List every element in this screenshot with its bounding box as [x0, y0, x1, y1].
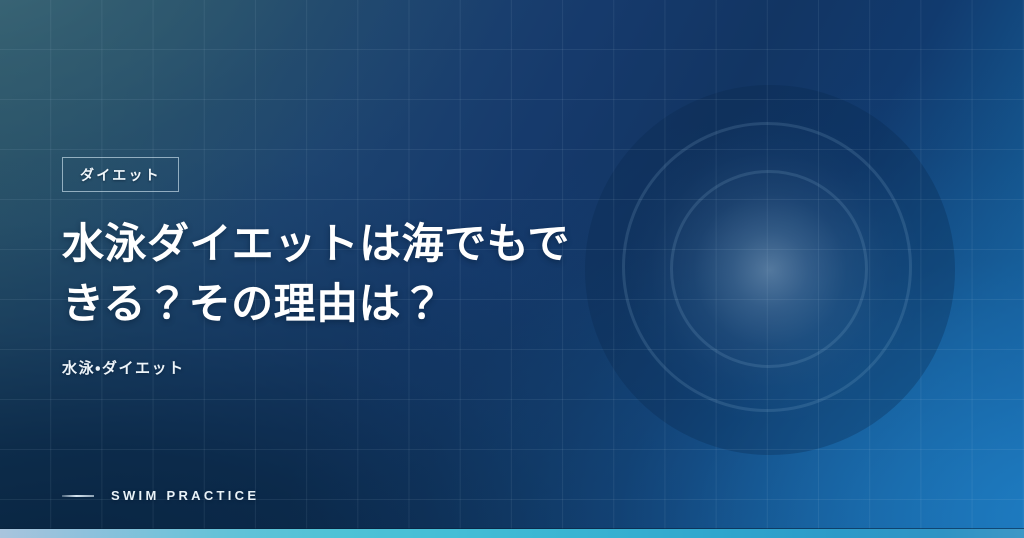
hero-content: ダイエット 水泳ダイエットは海でもで きる？その理由は？ 水泳・ダイエット SW… [0, 0, 1024, 538]
hero-banner: ダイエット 水泳ダイエットは海でもで きる？その理由は？ 水泳・ダイエット SW… [0, 0, 1024, 538]
horizontal-rule-icon [62, 495, 94, 497]
page-title: 水泳ダイエットは海でもで きる？その理由は？ [62, 216, 622, 335]
page-subtitle: 水泳・ダイエット [62, 357, 185, 378]
page-title-line-2: きる？その理由は？ [62, 282, 444, 328]
brand-name-label: SWIM PRACTICE [111, 488, 259, 503]
category-tag-badge[interactable]: ダイエット [62, 157, 179, 192]
page-title-line-1: 水泳ダイエットは海でもで [62, 222, 570, 268]
category-tag-label: ダイエット [80, 168, 161, 182]
brand-footer: SWIM PRACTICE [62, 488, 259, 503]
accent-bar-bottom [0, 529, 1024, 538]
